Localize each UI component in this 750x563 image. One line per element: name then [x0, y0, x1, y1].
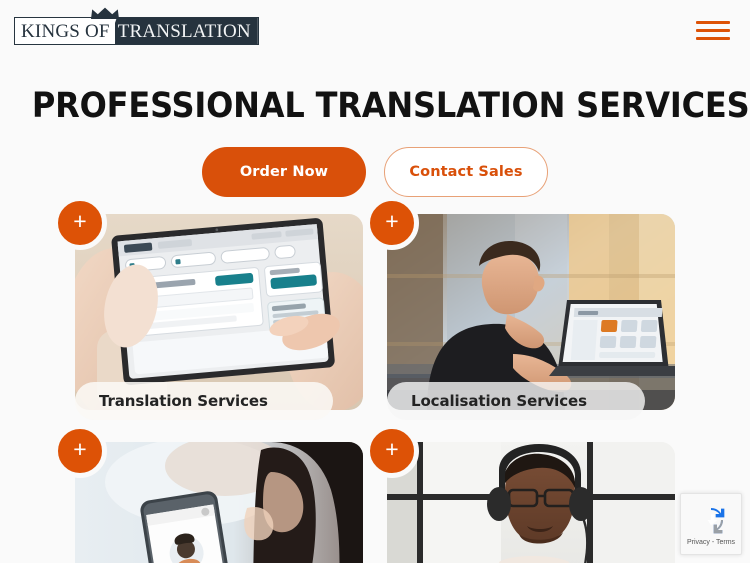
order-now-button[interactable]: Order Now — [202, 147, 366, 197]
recaptcha-badge[interactable]: Privacy - Terms — [680, 493, 742, 555]
recaptcha-icon — [695, 504, 727, 536]
plus-icon[interactable]: + — [53, 196, 107, 250]
plus-icon[interactable]: + — [365, 424, 419, 478]
logo-word-translation: TRANSLATION — [108, 18, 258, 44]
service-card-support[interactable]: + — [387, 442, 675, 563]
hero-section: PROFESSIONAL TRANSLATION SERVICES Order … — [0, 60, 750, 197]
logo-word-kings-of: KINGS OF — [15, 18, 115, 44]
hamburger-bar-3 — [696, 37, 730, 40]
hero-actions: Order Now Contact Sales — [0, 147, 750, 197]
service-card-interpreting[interactable]: + — [75, 442, 363, 563]
crown-icon — [90, 7, 120, 20]
hamburger-bar-1 — [696, 21, 730, 24]
services-card-grid: + Translation Services — [0, 214, 750, 563]
plus-icon[interactable]: + — [365, 196, 419, 250]
contact-sales-button[interactable]: Contact Sales — [384, 147, 548, 197]
brand-logo[interactable]: KINGS OF TRANSLATION — [14, 16, 259, 46]
service-card-translation[interactable]: + Translation Services — [75, 214, 363, 410]
service-card-label-translation: Translation Services — [75, 382, 333, 420]
service-card-localisation[interactable]: + Localisation Services — [387, 214, 675, 410]
service-card-image-translation — [75, 214, 363, 410]
plus-icon[interactable]: + — [53, 424, 107, 478]
hamburger-bar-2 — [696, 29, 730, 32]
service-card-image-headset — [387, 442, 675, 563]
page-title: PROFESSIONAL TRANSLATION SERVICES — [32, 88, 718, 125]
service-card-image-localisation — [387, 214, 675, 410]
site-header: KINGS OF TRANSLATION — [0, 0, 750, 60]
service-card-image-phone — [75, 442, 363, 563]
hamburger-menu-icon[interactable] — [696, 15, 730, 45]
recaptcha-privacy-terms[interactable]: Privacy - Terms — [687, 539, 735, 546]
service-card-label-localisation: Localisation Services — [387, 382, 645, 420]
logo-plate: KINGS OF TRANSLATION — [14, 17, 259, 45]
